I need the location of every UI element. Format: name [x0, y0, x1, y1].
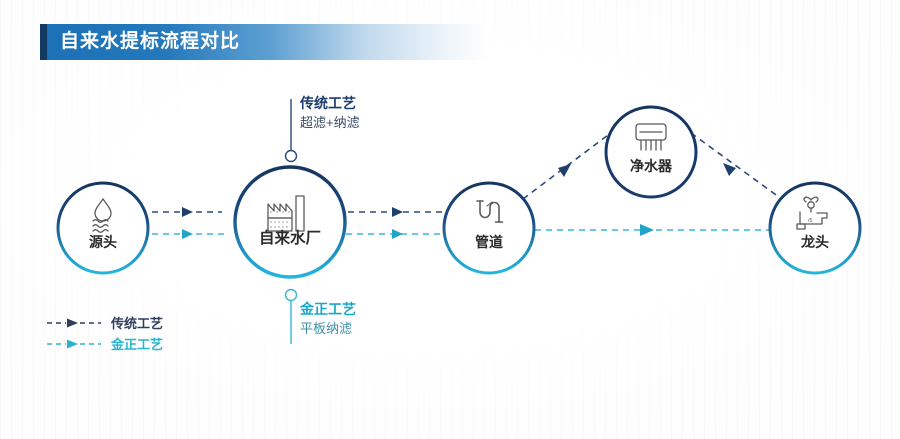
flow-node-plant[interactable] — [235, 167, 345, 277]
flow-diagram: /5 — [0, 0, 900, 439]
legend-item-jinzheng: 金正工艺 — [46, 333, 163, 354]
svg-text:/5: /5 — [808, 218, 812, 224]
flow-node-pipeline[interactable] — [444, 183, 534, 273]
legend-swatch-jinzheng — [46, 338, 102, 350]
diagram-canvas: 自来水提标流程对比 — [0, 0, 900, 439]
callout-stem-traditional — [286, 99, 297, 162]
legend: 传统工艺 金正工艺 — [46, 312, 163, 354]
callout-traditional-process: 传统工艺 超滤+纳滤 — [300, 94, 360, 132]
flow-node-purifier[interactable] — [606, 107, 696, 197]
legend-swatch-traditional — [46, 317, 102, 329]
connector-plant-pipeline-jinzheng — [346, 229, 447, 239]
flow-node-source[interactable] — [58, 183, 148, 273]
callout-jinzheng-title: 金正工艺 — [300, 300, 356, 319]
connector-purifier-faucet-traditional — [691, 133, 783, 200]
callout-traditional-title: 传统工艺 — [300, 94, 360, 113]
connector-source-plant-jinzheng — [152, 229, 228, 239]
flow-node-faucet[interactable]: /5 — [770, 183, 860, 273]
connector-pipeline-faucet-jinzheng — [535, 224, 772, 236]
connector-plant-pipeline-traditional — [348, 207, 447, 217]
callout-jinzheng-subtitle: 平板纳滤 — [300, 319, 356, 338]
legend-label-jinzheng: 金正工艺 — [111, 334, 163, 353]
callout-jinzheng-process: 金正工艺 平板纳滤 — [300, 300, 356, 338]
connector-pipeline-purifier-traditional — [523, 132, 612, 199]
legend-label-traditional: 传统工艺 — [111, 313, 163, 332]
connector-source-plant-traditional — [152, 207, 222, 217]
callout-traditional-subtitle: 超滤+纳滤 — [300, 113, 360, 132]
callout-stem-jinzheng — [286, 290, 297, 345]
legend-item-traditional: 传统工艺 — [46, 312, 163, 333]
